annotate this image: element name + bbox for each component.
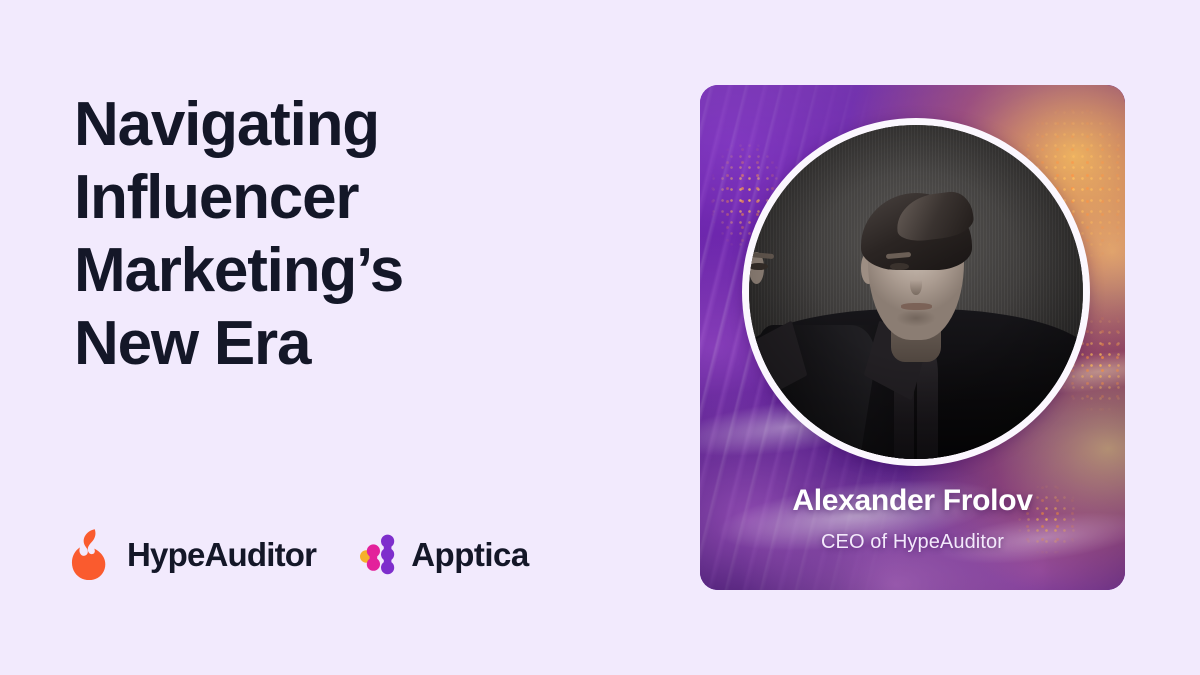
headline-line-1: Navigating bbox=[74, 88, 634, 161]
promo-slide: Navigating Influencer Marketing’s New Er… bbox=[0, 0, 1200, 675]
headline-line-2: Influencer bbox=[74, 161, 634, 234]
portrait-vignette bbox=[749, 125, 1083, 459]
logo-row: HypeAuditor Apptica bbox=[70, 528, 529, 580]
flame-icon bbox=[70, 528, 114, 580]
hypeauditor-wordmark: HypeAuditor bbox=[127, 538, 316, 571]
headline-line-3: Marketing’s bbox=[74, 234, 634, 307]
hypeauditor-logo: HypeAuditor bbox=[70, 528, 316, 580]
apptica-dots-icon bbox=[360, 529, 398, 579]
speaker-name: Alexander Frolov bbox=[700, 484, 1125, 518]
speaker-role: CEO of HypeAuditor bbox=[700, 531, 1125, 554]
avatar-photo bbox=[749, 125, 1083, 459]
headline-line-4: New Era bbox=[74, 307, 634, 380]
avatar bbox=[742, 118, 1090, 466]
page-title: Navigating Influencer Marketing’s New Er… bbox=[74, 88, 634, 380]
speaker-card: Alexander Frolov CEO of HypeAuditor bbox=[700, 85, 1125, 590]
apptica-logo: Apptica bbox=[360, 529, 529, 579]
apptica-wordmark: Apptica bbox=[411, 538, 529, 571]
